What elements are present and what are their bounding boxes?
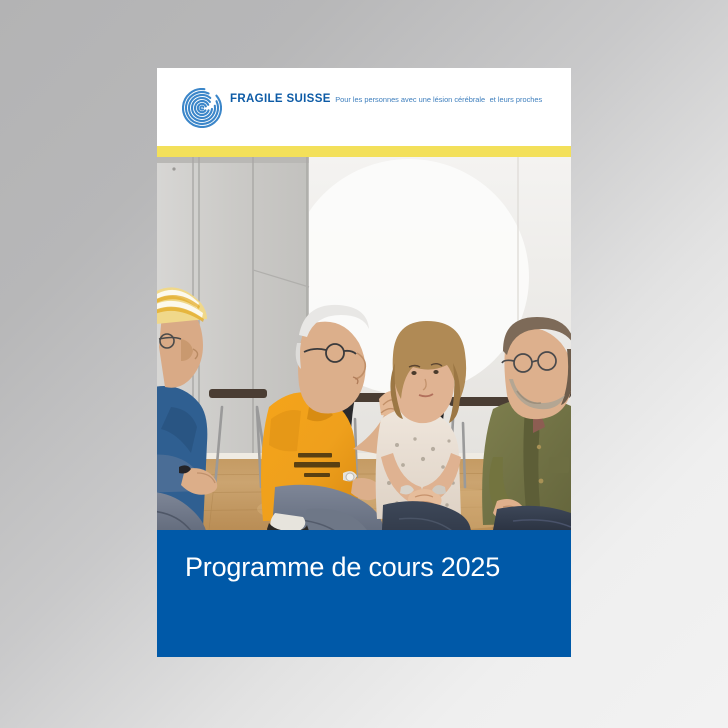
- brand-logo: FRAGILE SUISSE Pour les personnes avec u…: [182, 87, 542, 128]
- page-title: Programme de cours 2025: [185, 551, 545, 583]
- brand-tagline-line-1: Pour les personnes avec une lésion céréb…: [335, 95, 485, 104]
- page-header: FRAGILE SUISSE Pour les personnes avec u…: [157, 68, 571, 146]
- cover-photo: [157, 157, 571, 530]
- yellow-accent-band: [157, 146, 571, 157]
- cover-title-block: Programme de cours 2025: [157, 530, 571, 657]
- fragile-suisse-spiral-logo-icon: [182, 88, 222, 128]
- brochure-cover-page: FRAGILE SUISSE Pour les personnes avec u…: [157, 68, 571, 657]
- brand-tagline-line-2: et leurs proches: [490, 95, 543, 104]
- brand-name: FRAGILE SUISSE: [230, 93, 331, 105]
- brand-logo-text: FRAGILE SUISSE Pour les personnes avec u…: [230, 87, 542, 107]
- screenshot-canvas: FRAGILE SUISSE Pour les personnes avec u…: [0, 0, 728, 728]
